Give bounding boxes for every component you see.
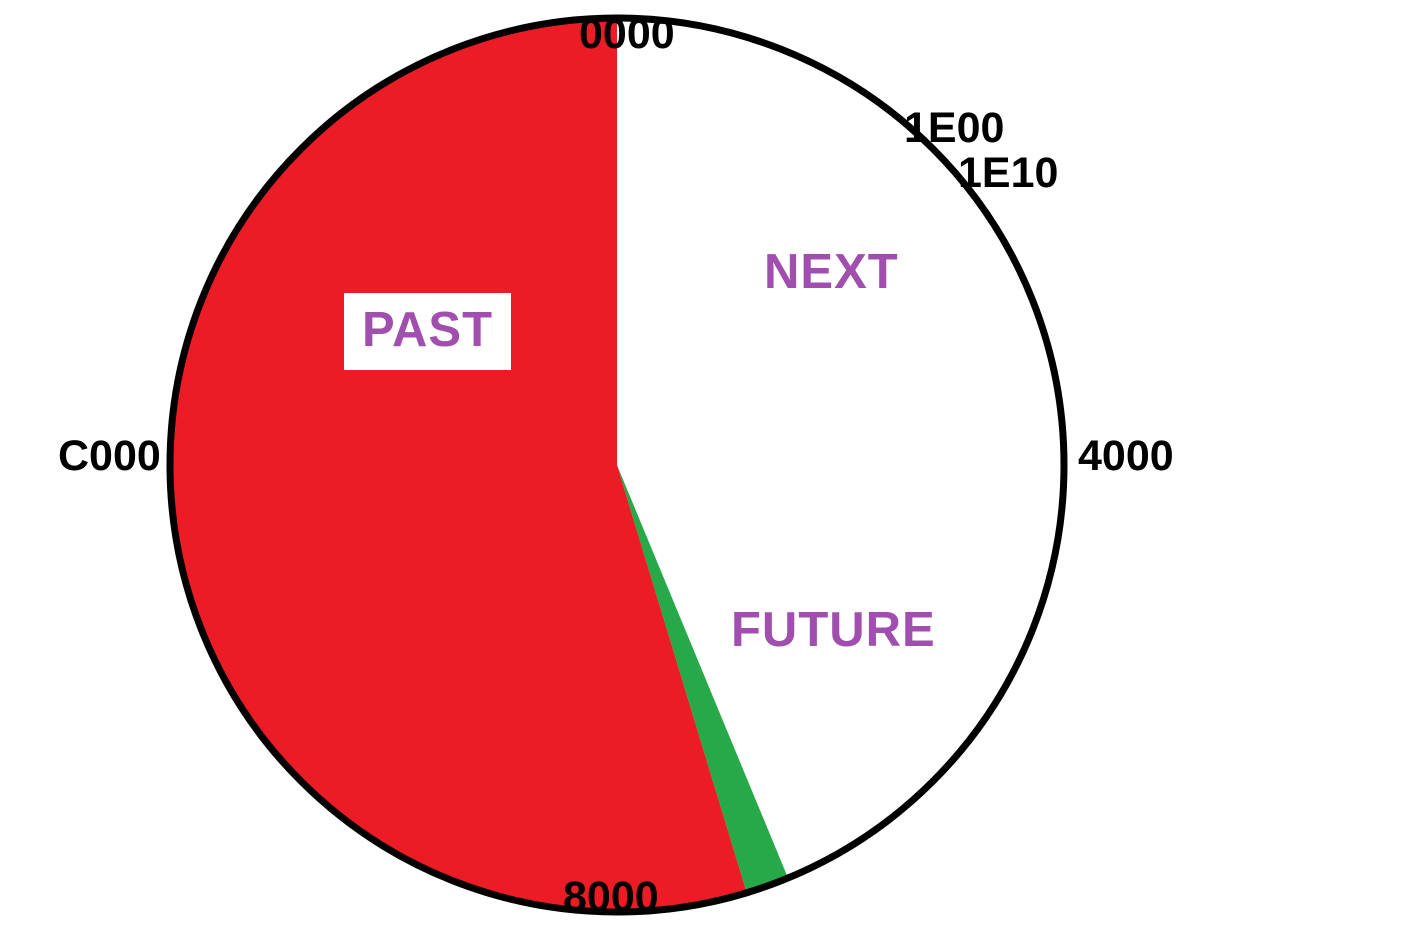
slice-label-future: FUTURE [713,593,954,670]
diagram-canvas: 0000 1E00 1E10 4000 8000 C000 PAST NEXT … [0,0,1404,949]
slice-label-past: PAST [344,293,511,370]
tick-label-4000: 4000 [1078,435,1174,478]
tick-label-8000: 8000 [563,876,659,919]
tick-label-0000: 0000 [579,13,675,56]
pie-slice-past[interactable] [170,18,747,912]
pie-chart [0,0,1404,949]
tick-label-1E00: 1E00 [904,107,1004,150]
tick-label-C000: C000 [58,435,161,478]
tick-label-1E10: 1E10 [958,152,1058,195]
slice-label-next: NEXT [746,235,917,312]
